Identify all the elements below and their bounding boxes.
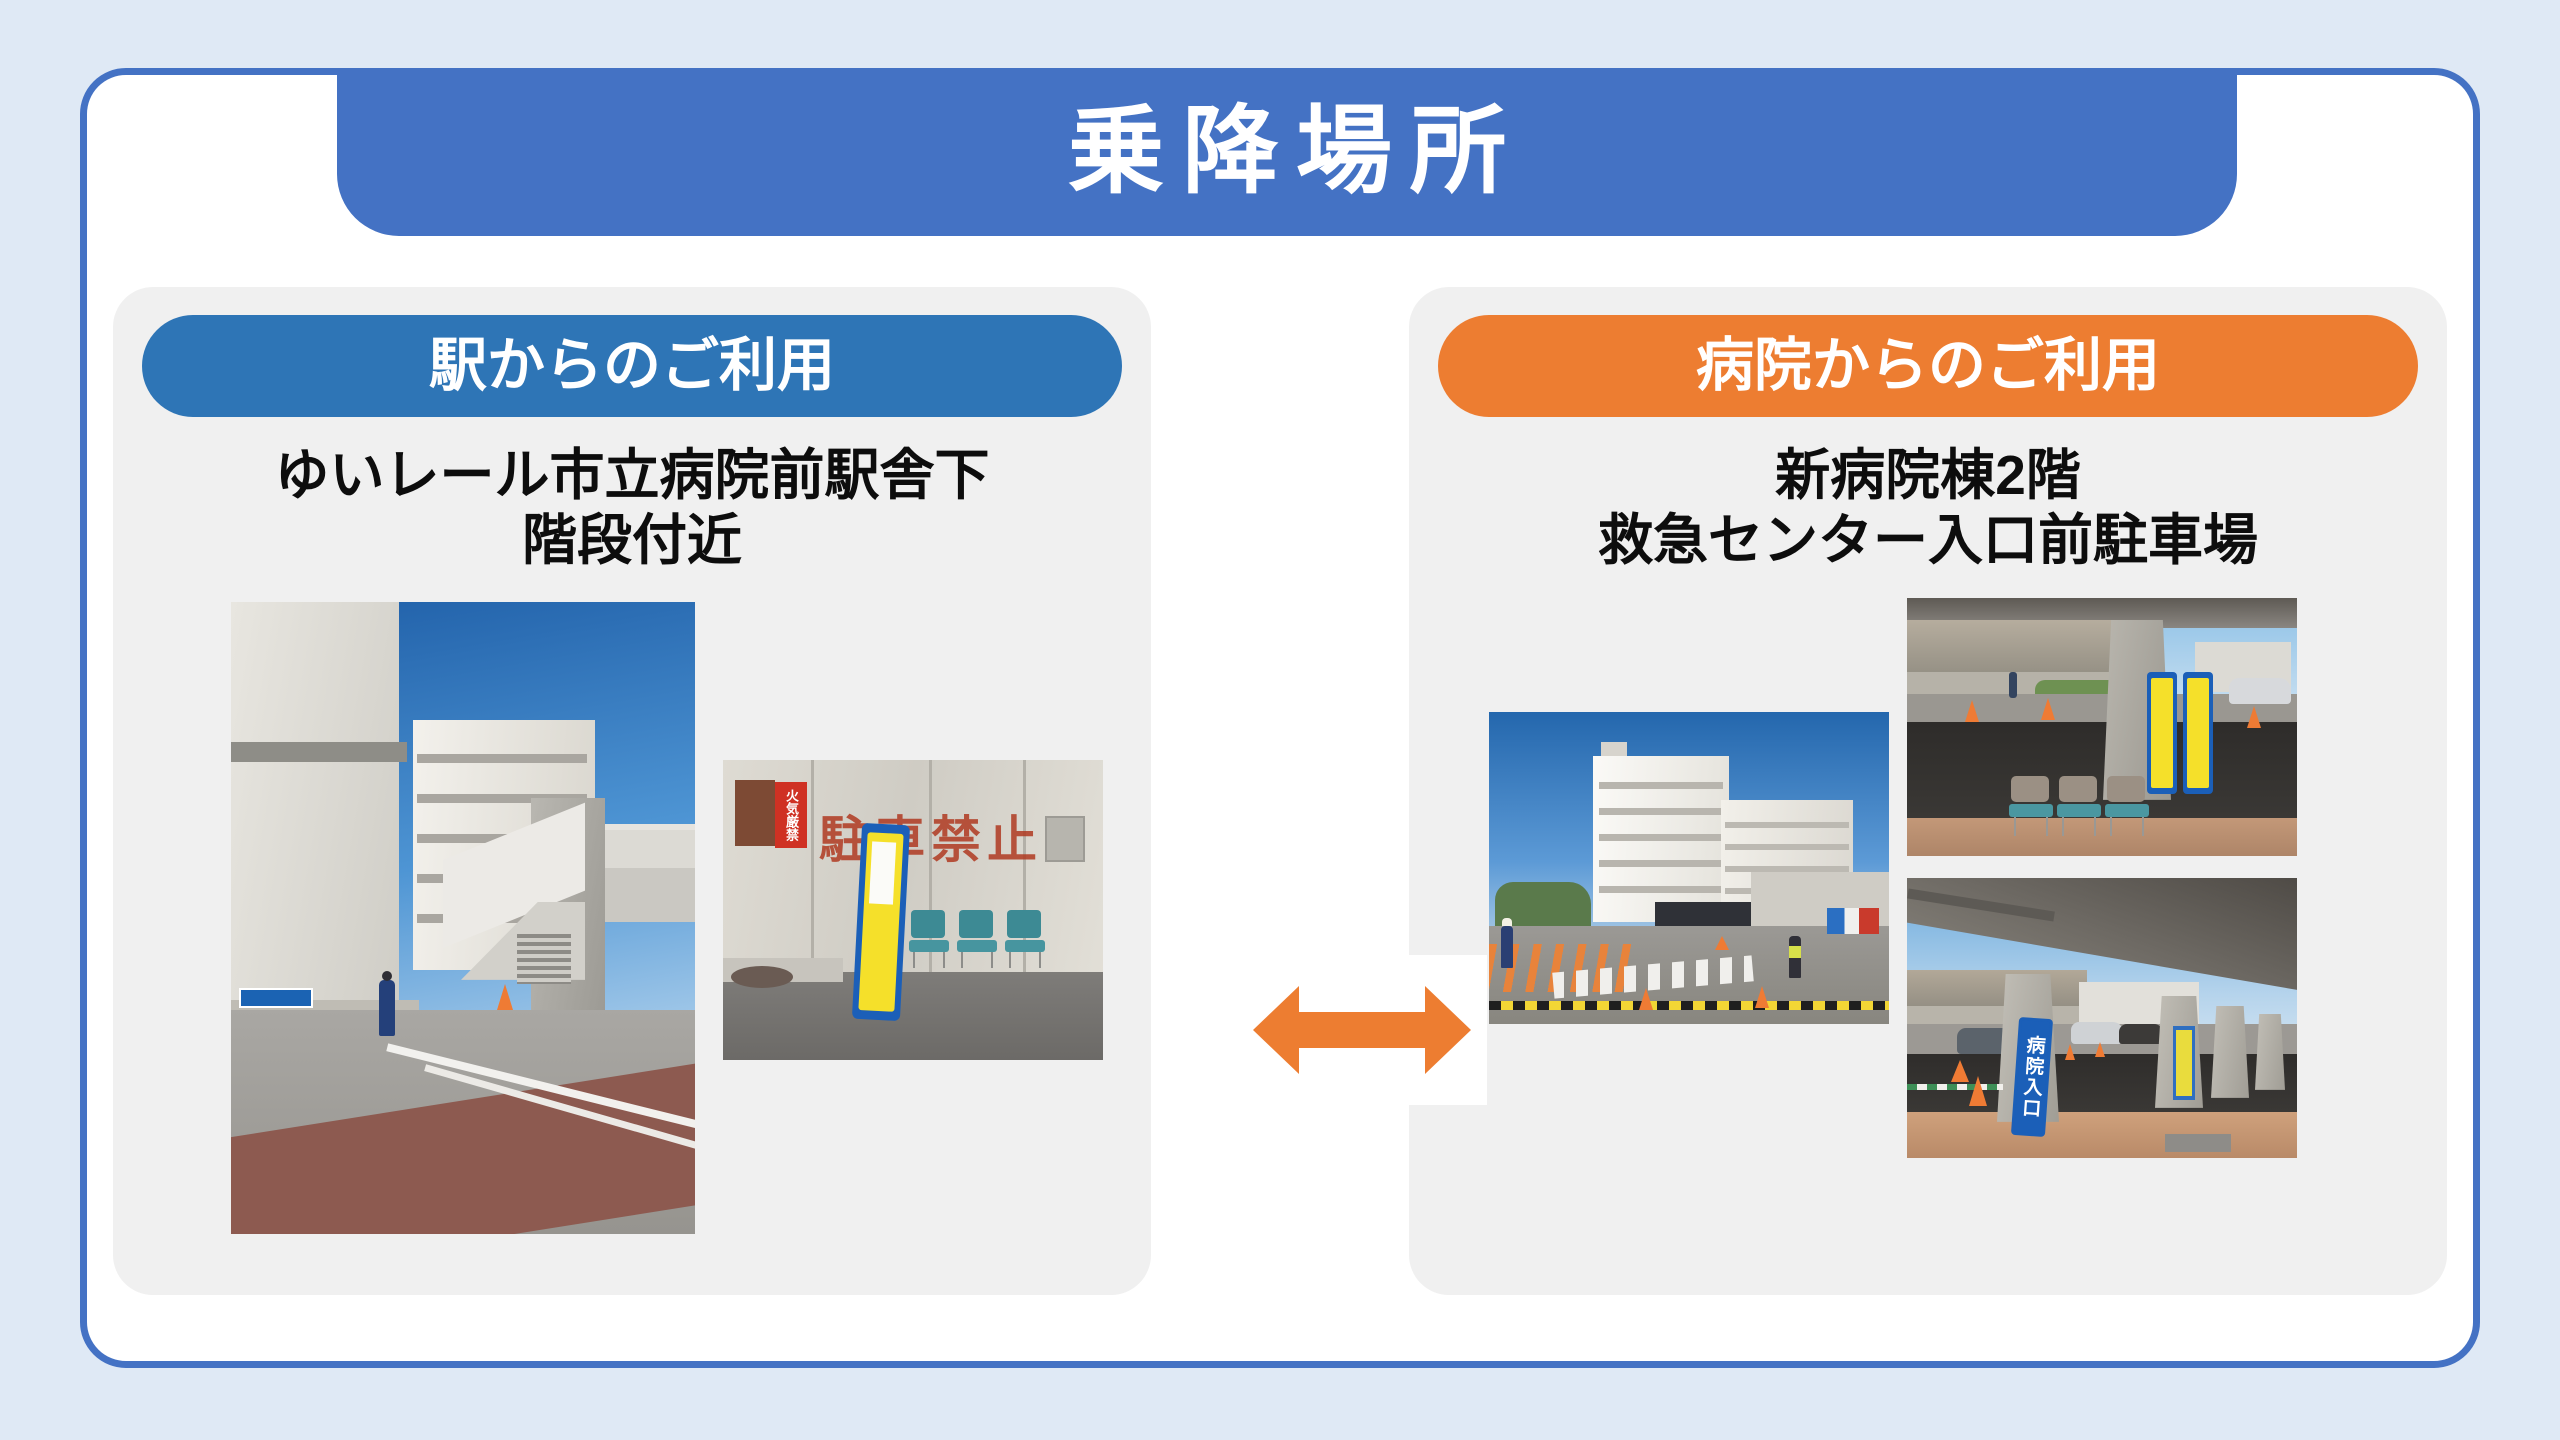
traffic-cone-icon	[1715, 936, 1729, 950]
wall-sign-photo: 火気厳禁 駐車禁止	[723, 760, 1103, 1060]
bidirectional-arrow-icon	[1237, 955, 1487, 1105]
yellow-a-frame-sign-icon	[852, 823, 910, 1021]
fire-warning-sign-icon: 火気厳禁	[775, 782, 807, 848]
panel-hospital-photos: 病院入口	[1443, 582, 2413, 1275]
hospital-exterior-photo	[1489, 712, 1889, 1024]
station-stairs-scene	[231, 602, 695, 1234]
pillar-signs-scene	[1907, 598, 2297, 856]
traffic-cone-icon	[1755, 986, 1769, 1008]
chairs-group-icon	[2009, 776, 2145, 838]
traffic-cone-icon	[1969, 1076, 1987, 1106]
traffic-cone-icon	[497, 984, 513, 1010]
panel-hospital: 病院からのご利用 新病院棟2階 救急センター入口前駐車場	[1409, 287, 2447, 1295]
panel-hospital-pill: 病院からのご利用	[1438, 315, 2418, 417]
panel-station-pill: 駅からのご利用	[142, 315, 1122, 417]
underpass-entrance-scene: 病院入口	[1907, 878, 2297, 1158]
traffic-cone-icon	[2095, 1042, 2105, 1057]
station-stairs-photo	[231, 602, 695, 1234]
traffic-cone-icon	[2247, 706, 2261, 728]
yellow-a-frame-sign-icon	[2173, 1026, 2195, 1100]
wall-sign-scene: 火気厳禁 駐車禁止	[723, 760, 1103, 1060]
guard-figure-icon	[1501, 926, 1513, 968]
panel-hospital-subtitle: 新病院棟2階 救急センター入口前駐車場	[1598, 443, 2258, 574]
parking-entrance-sign-icon	[239, 988, 313, 1008]
panel-station-subtitle: ゆいレール市立病院前駅舎下 階段付近	[274, 443, 989, 574]
traffic-cone-icon	[2041, 698, 2055, 720]
guard-figure-icon	[379, 980, 395, 1036]
underpass-entrance-photo: 病院入口	[1907, 878, 2297, 1158]
yellow-a-frame-sign-icon	[2183, 672, 2213, 794]
yellow-a-frame-sign-icon	[2147, 672, 2177, 794]
page-title: 乗降場所	[1050, 104, 1524, 200]
title-banner: 乗降場所	[337, 68, 2237, 236]
panel-station-photos: 火気厳禁 駐車禁止	[147, 582, 1117, 1275]
panel-station: 駅からのご利用 ゆいレール市立病院前駅舎下 階段付近	[113, 287, 1151, 1295]
traffic-cone-icon	[1965, 700, 1979, 722]
panel-hospital-pill-label: 病院からのご利用	[1696, 337, 2160, 395]
traffic-cone-icon	[1639, 988, 1653, 1010]
guard-figure-icon	[1789, 936, 1801, 978]
poster-card: 乗降場所 駅からのご利用 ゆいレール市立病院前駅舎下 階段付近	[80, 68, 2480, 1368]
traffic-cone-icon	[2065, 1044, 2075, 1060]
pillar-signs-photo	[1907, 598, 2297, 856]
hospital-exterior-scene	[1489, 712, 1889, 1024]
traffic-cone-icon	[1951, 1060, 1969, 1082]
chairs-group-icon	[909, 910, 1045, 972]
no-parking-wall-text: 駐車禁止	[819, 812, 1049, 868]
panel-station-pill-label: 駅からのご利用	[429, 337, 835, 395]
panels-row: 駅からのご利用 ゆいレール市立病院前駅舎下 階段付近	[87, 287, 2473, 1297]
person-figure-icon	[2009, 672, 2017, 698]
